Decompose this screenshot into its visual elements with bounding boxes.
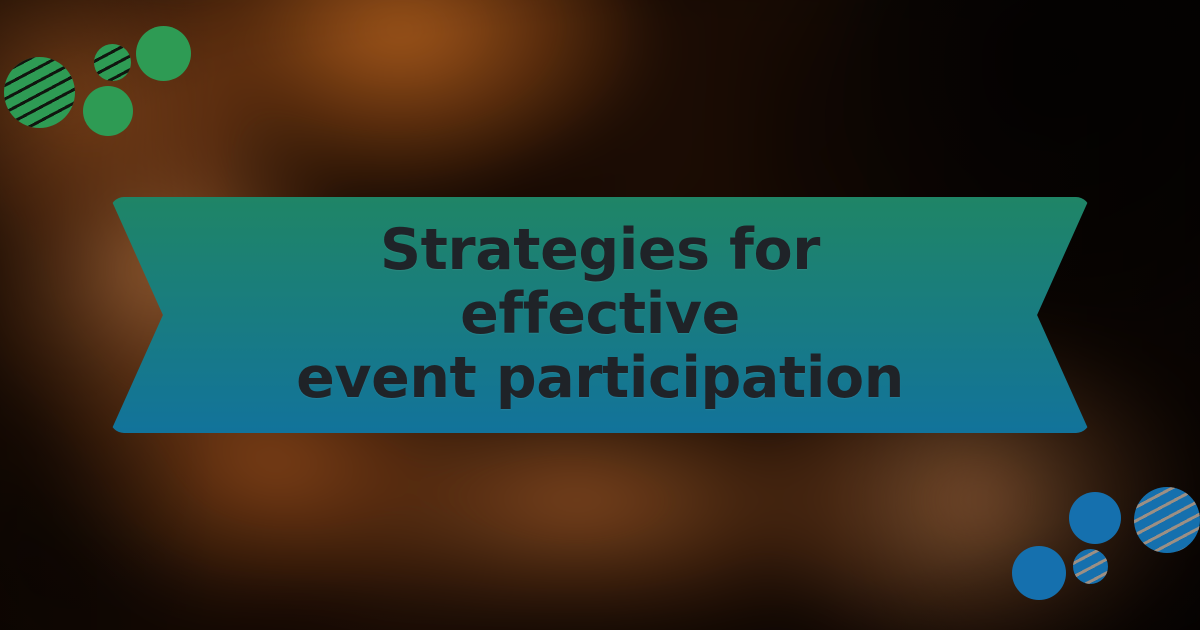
green-circle-striped-large — [4, 57, 75, 128]
blue-circle-striped-small — [1073, 549, 1108, 584]
blue-circle-large — [1012, 546, 1066, 600]
blue-circle-striped-large — [1134, 487, 1200, 553]
blue-circle-medium — [1069, 492, 1121, 544]
green-circle-striped-small — [94, 44, 131, 81]
green-circle-medium — [83, 86, 133, 136]
banner-canvas: Strategies for effectiveevent participat… — [0, 0, 1200, 630]
title-ribbon: Strategies for effectiveevent participat… — [110, 197, 1090, 433]
page-title: Strategies for effectiveevent participat… — [110, 219, 1090, 410]
green-circle-large — [136, 26, 191, 81]
